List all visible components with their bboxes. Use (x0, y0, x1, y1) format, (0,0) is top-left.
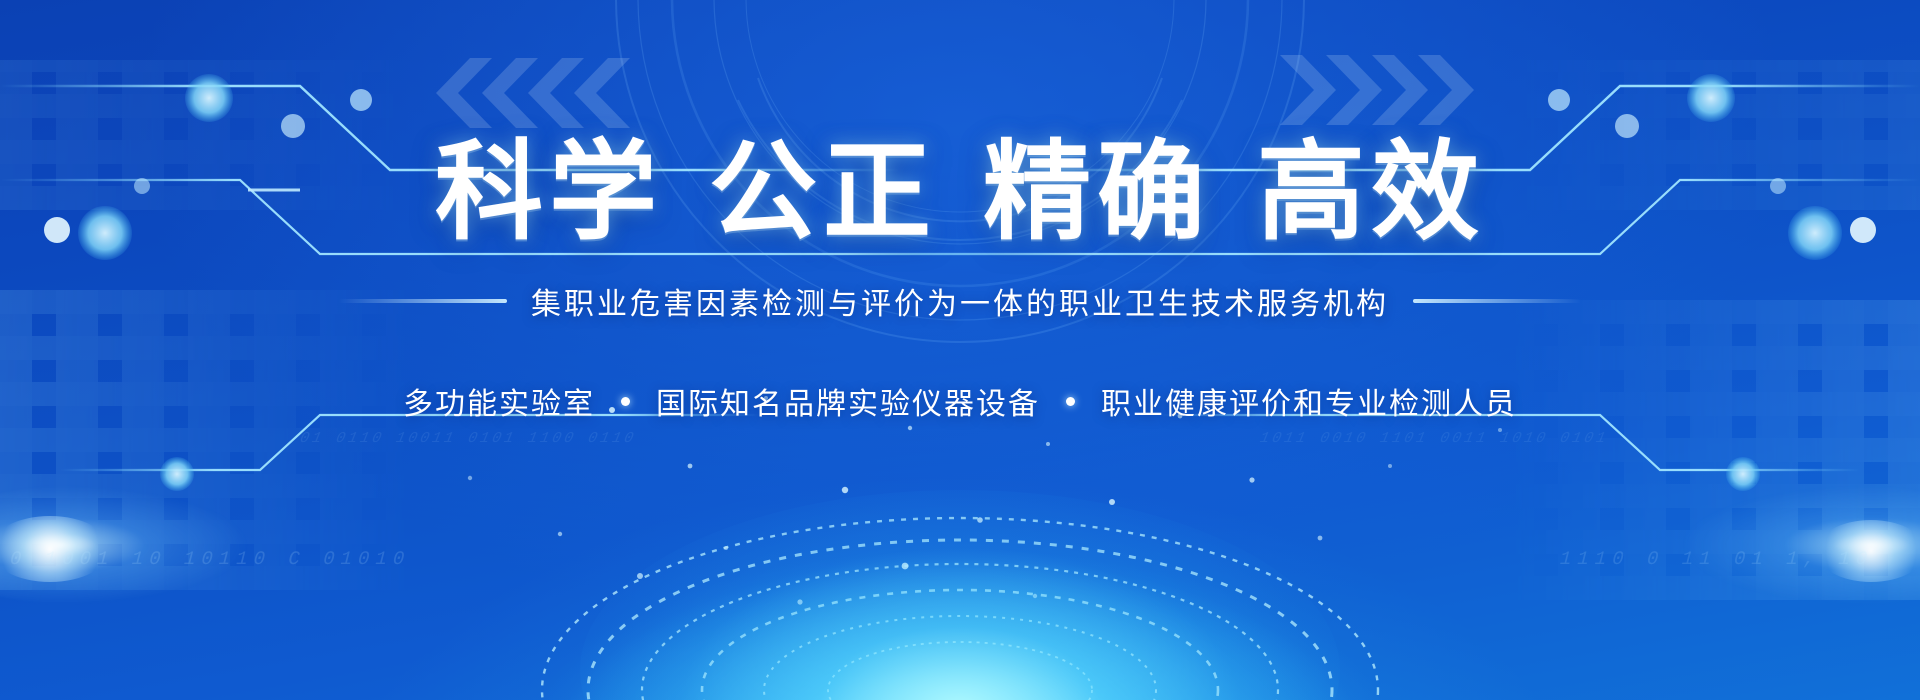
headline-word-3: 精确 (983, 131, 1211, 252)
tagline-1: 多功能实验室 (403, 379, 595, 423)
divider-line-left (339, 299, 507, 303)
hero-banner: 0 1001 10 10110 C 01010 1110 0 11 01 1, … (0, 0, 1920, 700)
headline-word-1: 科学 (435, 131, 663, 252)
banner-taglines: 多功能实验室 国际知名品牌实验仪器设备 职业健康评价和专业检测人员 (403, 379, 1517, 423)
banner-content: 科学公正精确高效 集职业危害因素检测与评价为一体的职业卫生技术服务机构 多功能实… (0, 0, 1920, 700)
banner-subtitle: 集职业危害因素检测与评价为一体的职业卫生技术服务机构 (531, 279, 1389, 323)
tagline-2: 国际知名品牌实验仪器设备 (656, 379, 1040, 423)
headline-word-4: 高效 (1257, 131, 1485, 252)
tagline-separator-dot-1 (621, 397, 630, 406)
tagline-3: 职业健康评价和专业检测人员 (1101, 379, 1517, 423)
divider-line-right (1413, 299, 1581, 303)
headline-word-2: 公正 (709, 131, 937, 252)
banner-headline: 科学公正精确高效 (435, 135, 1485, 249)
tagline-separator-dot-2 (1066, 397, 1075, 406)
banner-subtitle-row: 集职业危害因素检测与评价为一体的职业卫生技术服务机构 (0, 279, 1920, 323)
